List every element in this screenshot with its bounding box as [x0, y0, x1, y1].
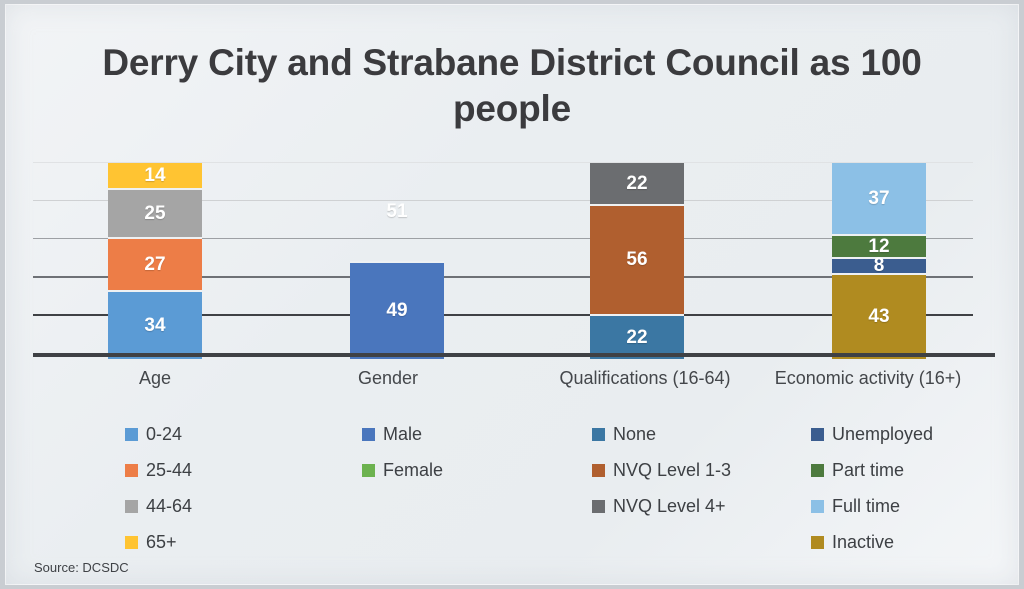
legend-swatch-icon: [592, 464, 605, 477]
bar-segment[interactable]: 56: [590, 206, 684, 316]
legend-item[interactable]: 0-24: [125, 416, 192, 452]
bar-segment[interactable]: 22: [590, 163, 684, 206]
legend-item[interactable]: Female: [362, 452, 443, 488]
bar-segment-value: 37: [868, 189, 889, 208]
stacked-bar[interactable]: 5149: [350, 163, 444, 359]
category-label: Gender: [248, 368, 528, 389]
legend-column: MaleFemale: [362, 416, 443, 488]
slide-canvas: Derry City and Strabane District Council…: [5, 4, 1019, 585]
bar-segment-value: 22: [626, 174, 647, 193]
stacked-bar[interactable]: 14252734: [108, 163, 202, 359]
legend-label: 0-24: [146, 424, 182, 445]
legend-swatch-icon: [362, 464, 375, 477]
legend-item[interactable]: NVQ Level 1-3: [592, 452, 731, 488]
legend-label: Female: [383, 460, 443, 481]
legend-item[interactable]: NVQ Level 4+: [592, 488, 731, 524]
bar-segment[interactable]: 43: [832, 275, 926, 359]
axis-baseline: [33, 353, 995, 357]
bar-segment[interactable]: 37: [832, 163, 926, 236]
legend-swatch-icon: [125, 464, 138, 477]
bar-segment-value: 12: [868, 237, 889, 256]
bar-segment[interactable]: 8: [832, 259, 926, 275]
bar-segment[interactable]: 34: [108, 292, 202, 359]
bar-segment-value: 56: [626, 250, 647, 269]
legend-swatch-icon: [125, 536, 138, 549]
legend-item[interactable]: Full time: [811, 488, 933, 524]
bar-segment[interactable]: 25: [108, 190, 202, 239]
legend-swatch-icon: [362, 428, 375, 441]
legend-label: None: [613, 424, 656, 445]
legend-item[interactable]: 65+: [125, 524, 192, 560]
legend-swatch-icon: [125, 428, 138, 441]
bar-segment-value: 51: [386, 202, 407, 221]
legend-label: 25-44: [146, 460, 192, 481]
legend-item[interactable]: Unemployed: [811, 416, 933, 452]
legend-label: Inactive: [832, 532, 894, 553]
legend-swatch-icon: [811, 536, 824, 549]
legend-label: NVQ Level 1-3: [613, 460, 731, 481]
legend-item[interactable]: Inactive: [811, 524, 933, 560]
bar-segment[interactable]: 51: [350, 163, 444, 263]
legend-item[interactable]: 25-44: [125, 452, 192, 488]
bar-segment-value: 27: [144, 255, 165, 274]
legend-column: NoneNVQ Level 1-3NVQ Level 4+: [592, 416, 731, 524]
legend-label: Male: [383, 424, 422, 445]
bar-segment-value: 14: [144, 166, 165, 185]
legend-label: NVQ Level 4+: [613, 496, 726, 517]
legend-label: Full time: [832, 496, 900, 517]
legend-swatch-icon: [811, 500, 824, 513]
source-note: Source: DCSDC: [34, 560, 129, 575]
legend-column: UnemployedPart timeFull timeInactive: [811, 416, 933, 560]
bar-segment-value: 22: [626, 328, 647, 347]
legend-label: 65+: [146, 532, 177, 553]
page-title: Derry City and Strabane District Council…: [65, 40, 959, 132]
legend-column: 0-2425-4444-6465+: [125, 416, 192, 560]
bar-segment-value: 34: [144, 316, 165, 335]
chart-plot-area: 1425273451492256223712843: [33, 154, 995, 359]
legend-item[interactable]: Male: [362, 416, 443, 452]
bar-segment-value: 43: [868, 307, 889, 326]
legend-item[interactable]: 44-64: [125, 488, 192, 524]
stacked-bar[interactable]: 3712843: [832, 163, 926, 359]
bar-segment-value: 8: [874, 256, 885, 275]
bar-segment-value: 25: [144, 204, 165, 223]
legend-item[interactable]: Part time: [811, 452, 933, 488]
legend-item[interactable]: None: [592, 416, 731, 452]
bar-segment[interactable]: 14: [108, 163, 202, 190]
bar-segment[interactable]: 27: [108, 239, 202, 292]
bar-segment-value: 49: [386, 301, 407, 320]
bar-segment[interactable]: 49: [350, 263, 444, 359]
legend-swatch-icon: [125, 500, 138, 513]
legend-swatch-icon: [811, 464, 824, 477]
legend-label: Part time: [832, 460, 904, 481]
category-label: Economic activity (16+): [728, 368, 1008, 389]
legend-swatch-icon: [592, 500, 605, 513]
legend-label: Unemployed: [832, 424, 933, 445]
legend-swatch-icon: [811, 428, 824, 441]
stacked-bar[interactable]: 225622: [590, 163, 684, 359]
legend-label: 44-64: [146, 496, 192, 517]
legend-swatch-icon: [592, 428, 605, 441]
